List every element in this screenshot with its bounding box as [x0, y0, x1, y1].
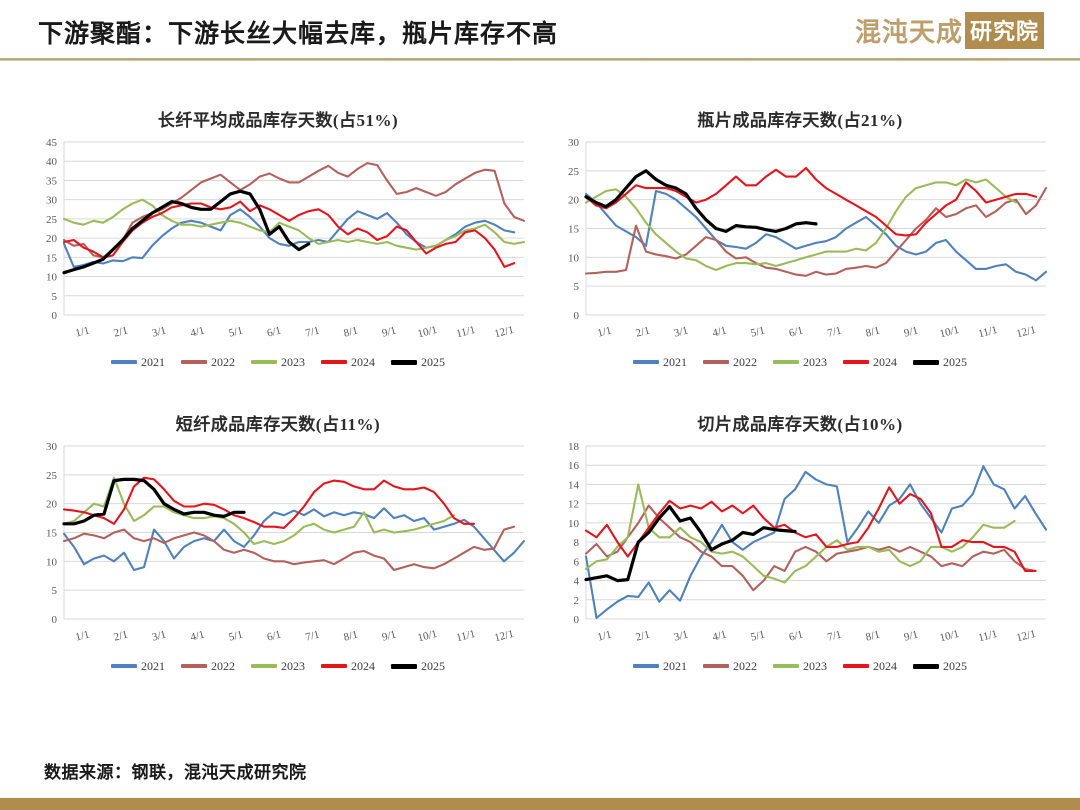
svg-text:1/1: 1/1: [596, 325, 613, 340]
line-chart-svg: 0510152025301/12/13/14/15/16/17/18/19/11…: [540, 134, 1060, 349]
legend-swatch-2022: [181, 360, 207, 364]
svg-text:6: 6: [574, 556, 580, 568]
svg-text:8/1: 8/1: [343, 325, 360, 340]
line-chart-svg: 0510152025301/12/13/14/15/16/17/18/19/11…: [18, 438, 538, 653]
plot-area: 0510152025303540451/12/13/14/15/16/17/18…: [18, 134, 538, 349]
legend-label-2024: 2024: [873, 355, 897, 370]
svg-text:8/1: 8/1: [343, 629, 360, 644]
page-title: 下游聚酯：下游长丝大幅去库，瓶片库存不高: [38, 14, 558, 50]
svg-text:0: 0: [574, 614, 580, 626]
legend-item-2021[interactable]: 2021: [633, 355, 687, 370]
svg-text:11/1: 11/1: [455, 324, 476, 340]
legend-label-2024: 2024: [873, 659, 897, 674]
chart-title: 瓶片成品库存天数(占21%): [540, 108, 1060, 134]
svg-text:5: 5: [52, 291, 58, 303]
svg-text:30: 30: [46, 441, 58, 453]
svg-text:5: 5: [52, 585, 58, 597]
svg-text:15: 15: [568, 224, 580, 236]
svg-text:10/1: 10/1: [416, 324, 438, 340]
legend-label-2023: 2023: [281, 659, 305, 674]
legend-label-2021: 2021: [141, 355, 165, 370]
line-chart-svg: 0246810121416181/12/13/14/15/16/17/18/19…: [540, 438, 1060, 653]
legend-label-2023: 2023: [281, 355, 305, 370]
legend-item-2024[interactable]: 2024: [321, 659, 375, 674]
legend-item-2022[interactable]: 2022: [181, 659, 235, 674]
legend-label-2023: 2023: [803, 355, 827, 370]
svg-text:20: 20: [46, 233, 58, 245]
svg-text:12: 12: [568, 499, 579, 511]
chart-panel-changxian: 长纤平均成品库存天数(占51%) 0510152025303540451/12/…: [18, 108, 538, 428]
svg-text:4/1: 4/1: [711, 325, 728, 340]
legend-swatch-2025: [391, 360, 417, 365]
legend-swatch-2021: [111, 664, 137, 668]
legend-item-2021[interactable]: 2021: [633, 659, 687, 674]
svg-text:12/1: 12/1: [493, 324, 515, 340]
svg-text:20: 20: [46, 499, 58, 511]
legend-label-2025: 2025: [421, 659, 445, 674]
legend-swatch-2023: [251, 664, 277, 668]
svg-text:4/1: 4/1: [189, 629, 206, 644]
svg-text:30: 30: [46, 195, 58, 207]
legend-swatch-2023: [773, 664, 799, 668]
legend-item-2022[interactable]: 2022: [703, 659, 757, 674]
svg-text:35: 35: [46, 175, 58, 187]
svg-text:10: 10: [568, 252, 580, 264]
legend-label-2023: 2023: [803, 659, 827, 674]
legend-item-2023[interactable]: 2023: [773, 355, 827, 370]
svg-text:2: 2: [574, 595, 580, 607]
legend-swatch-2024: [843, 360, 869, 364]
svg-text:45: 45: [46, 137, 58, 149]
legend-label-2025: 2025: [943, 659, 967, 674]
svg-text:12/1: 12/1: [1015, 628, 1037, 644]
svg-text:1/1: 1/1: [74, 629, 91, 644]
legend-swatch-2025: [913, 664, 939, 669]
header-divider: [0, 58, 1080, 61]
svg-text:9/1: 9/1: [381, 629, 398, 644]
svg-text:9/1: 9/1: [903, 629, 920, 644]
legend-item-2022[interactable]: 2022: [703, 355, 757, 370]
legend-swatch-2021: [111, 360, 137, 364]
legend-swatch-2024: [843, 664, 869, 668]
svg-text:9/1: 9/1: [903, 325, 920, 340]
svg-text:25: 25: [46, 470, 58, 482]
svg-text:6/1: 6/1: [788, 325, 805, 340]
plot-area: 0510152025301/12/13/14/15/16/17/18/19/11…: [18, 438, 538, 653]
plot-area: 0510152025301/12/13/14/15/16/17/18/19/11…: [540, 134, 1060, 349]
legend-label-2021: 2021: [663, 355, 687, 370]
svg-text:10: 10: [46, 556, 58, 568]
legend-item-2024[interactable]: 2024: [321, 355, 375, 370]
svg-text:25: 25: [568, 166, 580, 178]
svg-text:10: 10: [568, 518, 580, 530]
svg-text:11/1: 11/1: [977, 628, 998, 644]
svg-text:7/1: 7/1: [304, 629, 321, 644]
legend-swatch-2025: [391, 664, 417, 669]
legend-item-2023[interactable]: 2023: [251, 355, 305, 370]
legend-label-2022: 2022: [733, 659, 757, 674]
slide-root: 下游聚酯：下游长丝大幅去库，瓶片库存不高 混沌天成 研究院 长纤平均成品库存天数…: [0, 0, 1080, 810]
svg-text:2/1: 2/1: [635, 325, 652, 340]
svg-text:5/1: 5/1: [228, 325, 245, 340]
svg-text:16: 16: [568, 460, 580, 472]
legend-item-2021[interactable]: 2021: [111, 355, 165, 370]
svg-text:7/1: 7/1: [826, 325, 843, 340]
svg-text:40: 40: [46, 156, 58, 168]
svg-text:2/1: 2/1: [113, 629, 130, 644]
svg-text:9/1: 9/1: [381, 325, 398, 340]
legend-label-2025: 2025: [943, 355, 967, 370]
legend-label-2021: 2021: [141, 659, 165, 674]
legend-label-2025: 2025: [421, 355, 445, 370]
svg-text:3/1: 3/1: [673, 629, 690, 644]
svg-text:7/1: 7/1: [304, 325, 321, 340]
svg-text:10/1: 10/1: [416, 628, 438, 644]
svg-text:10/1: 10/1: [938, 628, 960, 644]
chart-panel-duanxian: 短纤成品库存天数(占11%) 0510152025301/12/13/14/15…: [18, 412, 538, 732]
svg-text:8/1: 8/1: [865, 629, 882, 644]
svg-text:11/1: 11/1: [977, 324, 998, 340]
plot-area: 0246810121416181/12/13/14/15/16/17/18/19…: [540, 438, 1060, 653]
legend-label-2022: 2022: [211, 659, 235, 674]
svg-text:5/1: 5/1: [228, 629, 245, 644]
svg-text:8: 8: [574, 537, 580, 549]
legend-swatch-2023: [773, 360, 799, 364]
svg-text:6/1: 6/1: [266, 325, 283, 340]
chart-legend: 20212022202320242025: [18, 353, 538, 371]
svg-text:2/1: 2/1: [113, 325, 130, 340]
line-chart-svg: 0510152025303540451/12/13/14/15/16/17/18…: [18, 134, 538, 349]
legend-item-2023[interactable]: 2023: [773, 659, 827, 674]
slide-header: 下游聚酯：下游长丝大幅去库，瓶片库存不高 混沌天成 研究院: [0, 0, 1080, 58]
svg-text:3/1: 3/1: [151, 629, 168, 644]
svg-text:0: 0: [574, 310, 580, 322]
legend-item-2024[interactable]: 2024: [843, 659, 897, 674]
svg-text:5/1: 5/1: [750, 629, 767, 644]
svg-text:3/1: 3/1: [673, 325, 690, 340]
svg-text:10: 10: [46, 272, 58, 284]
svg-text:1/1: 1/1: [596, 629, 613, 644]
legend-item-2024[interactable]: 2024: [843, 355, 897, 370]
legend-swatch-2022: [703, 360, 729, 364]
svg-text:11/1: 11/1: [455, 628, 476, 644]
legend-item-2022[interactable]: 2022: [181, 355, 235, 370]
svg-text:20: 20: [568, 195, 580, 207]
legend-label-2024: 2024: [351, 659, 375, 674]
legend-swatch-2023: [251, 360, 277, 364]
legend-swatch-2021: [633, 664, 659, 668]
svg-text:4: 4: [574, 576, 580, 588]
svg-text:2/1: 2/1: [635, 629, 652, 644]
svg-text:14: 14: [568, 479, 580, 491]
legend-item-2025[interactable]: 2025: [913, 355, 967, 370]
svg-text:12/1: 12/1: [493, 628, 515, 644]
charts-grid: 长纤平均成品库存天数(占51%) 0510152025303540451/12/…: [0, 72, 1080, 712]
legend-label-2024: 2024: [351, 355, 375, 370]
chart-title: 长纤平均成品库存天数(占51%): [18, 108, 538, 134]
svg-text:15: 15: [46, 252, 58, 264]
svg-text:0: 0: [52, 614, 58, 626]
chart-legend: 20212022202320242025: [540, 657, 1060, 675]
chart-title: 切片成品库存天数(占10%): [540, 412, 1060, 438]
svg-text:25: 25: [46, 214, 58, 226]
legend-item-2023[interactable]: 2023: [251, 659, 305, 674]
svg-text:5/1: 5/1: [750, 325, 767, 340]
svg-text:10/1: 10/1: [938, 324, 960, 340]
logo-text: 混沌天成: [855, 12, 963, 49]
legend-swatch-2021: [633, 360, 659, 364]
chart-legend: 20212022202320242025: [540, 353, 1060, 371]
legend-item-2021[interactable]: 2021: [111, 659, 165, 674]
svg-text:8/1: 8/1: [865, 325, 882, 340]
legend-swatch-2022: [703, 664, 729, 668]
legend-swatch-2022: [181, 664, 207, 668]
legend-swatch-2024: [321, 664, 347, 668]
svg-text:6/1: 6/1: [266, 629, 283, 644]
svg-text:18: 18: [568, 441, 580, 453]
chart-title: 短纤成品库存天数(占11%): [18, 412, 538, 438]
legend-label-2022: 2022: [211, 355, 235, 370]
svg-text:0: 0: [52, 310, 58, 322]
svg-text:7/1: 7/1: [826, 629, 843, 644]
svg-text:30: 30: [568, 137, 580, 149]
svg-text:1/1: 1/1: [74, 325, 91, 340]
logo-badge: 研究院: [965, 12, 1044, 49]
legend-swatch-2025: [913, 360, 939, 365]
svg-text:6/1: 6/1: [788, 629, 805, 644]
svg-text:4/1: 4/1: [189, 325, 206, 340]
legend-label-2021: 2021: [663, 659, 687, 674]
chart-panel-pingpian: 瓶片成品库存天数(占21%) 0510152025301/12/13/14/15…: [540, 108, 1060, 428]
footer-accent-bar: [0, 798, 1080, 810]
legend-item-2025[interactable]: 2025: [913, 659, 967, 674]
svg-text:4/1: 4/1: [711, 629, 728, 644]
legend-swatch-2024: [321, 360, 347, 364]
svg-text:12/1: 12/1: [1015, 324, 1037, 340]
legend-item-2025[interactable]: 2025: [391, 355, 445, 370]
legend-item-2025[interactable]: 2025: [391, 659, 445, 674]
data-source-note: 数据来源：钢联，混沌天成研究院: [44, 758, 307, 783]
svg-text:15: 15: [46, 528, 58, 540]
chart-legend: 20212022202320242025: [18, 657, 538, 675]
company-logo: 混沌天成 研究院: [855, 12, 1044, 48]
chart-panel-qiepian: 切片成品库存天数(占10%) 0246810121416181/12/13/14…: [540, 412, 1060, 732]
svg-text:5: 5: [574, 281, 580, 293]
svg-text:3/1: 3/1: [151, 325, 168, 340]
legend-label-2022: 2022: [733, 355, 757, 370]
